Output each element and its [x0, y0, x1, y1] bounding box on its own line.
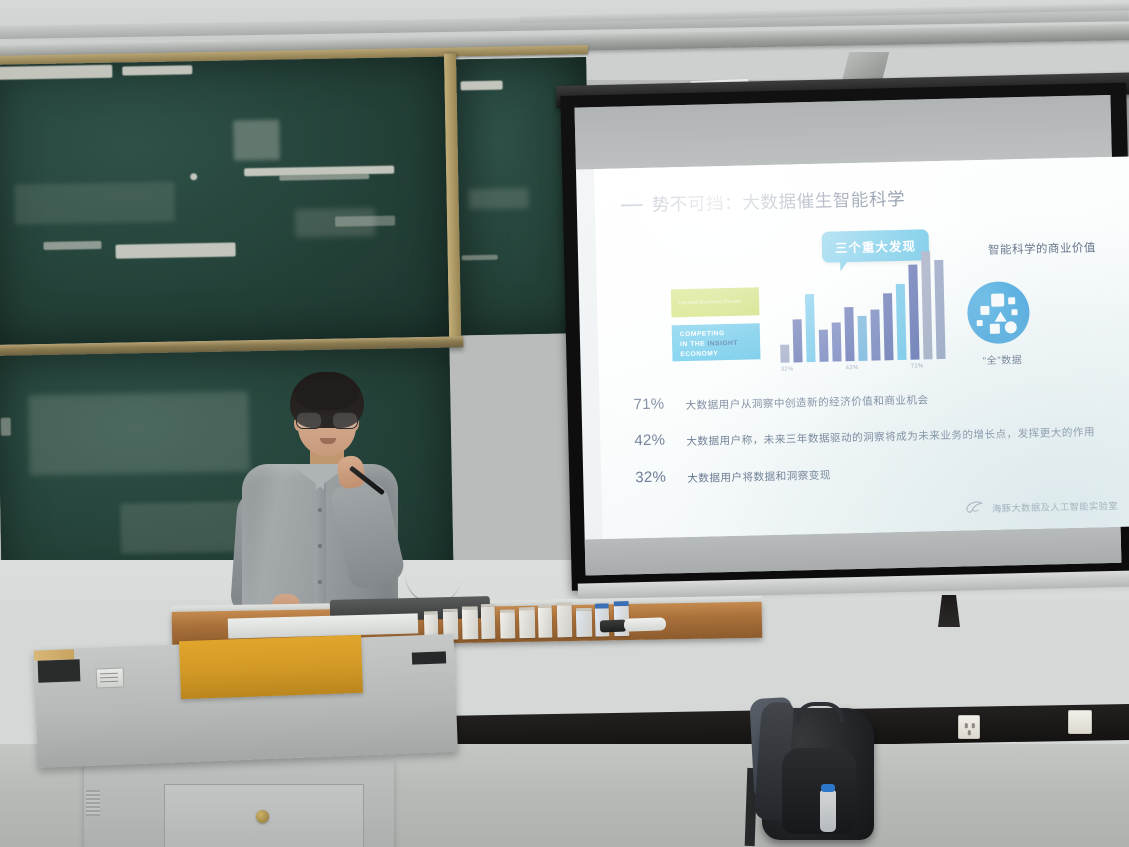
lectern	[22, 630, 470, 847]
competing-line-2-plain: IN THE	[680, 341, 707, 349]
dolphin-logo-icon	[965, 500, 985, 516]
blackboard-left	[0, 57, 449, 345]
lectern-recess-left	[38, 659, 81, 682]
glasses-lens-left	[296, 412, 322, 429]
lectern-wood-trim	[34, 649, 74, 660]
projected-slide: 势不可挡：大数据催生智能科学 智能科学的商业价值 三个重大发现 Harvard …	[594, 157, 1129, 540]
slide-title-row: 势不可挡：大数据催生智能科学	[621, 186, 906, 218]
projection-screen: 势不可挡：大数据催生智能科学 智能科学的商业价值 三个重大发现 Harvard …	[556, 72, 1129, 605]
chart-bar	[844, 307, 854, 361]
screen-surface: 势不可挡：大数据催生智能科学 智能科学的商业价值 三个重大发现 Harvard …	[575, 95, 1122, 575]
chart-bar	[921, 251, 933, 359]
shirt-button	[318, 580, 322, 584]
chart-bar	[908, 265, 919, 360]
finding-bullet: 71%大数据用户从洞察中创造新的经济价值和商业机会	[633, 385, 1103, 415]
shirt-button	[318, 544, 322, 548]
chart-bar	[780, 345, 789, 363]
competing-line-2-highlight: INSIGHT	[707, 340, 738, 348]
finding-bullet: 42%大数据用户称，未来三年数据驱动的洞察将成为未来业务的增长点，发挥更大的作用	[634, 422, 1104, 452]
finding-percent: 42%	[634, 432, 674, 450]
presenter-raised-hand	[336, 454, 366, 489]
backpack-bottle-cap	[821, 784, 835, 792]
lectern-wood-panel	[179, 635, 363, 699]
lectern-lock-icon[interactable]	[256, 810, 269, 823]
lectern-recess-right	[412, 651, 446, 664]
chart-bar	[793, 319, 803, 362]
chart-bar	[805, 294, 816, 362]
lectern-vent	[86, 790, 100, 816]
lab-name-footer: 海豚大数据及人工智能实验室	[992, 498, 1118, 515]
product-box	[538, 605, 553, 638]
finding-text: 大数据用户将数据和洞察变现	[687, 464, 831, 487]
chart-bar	[883, 293, 894, 360]
competing-insight-economy-block: COMPETING IN THE INSIGHT ECONOMY	[672, 323, 761, 361]
classroom-photo: 势不可挡：大数据催生智能科学 智能科学的商业价值 三个重大发现 Harvard …	[0, 0, 1129, 847]
finding-percent: 32%	[635, 468, 675, 486]
chart-axis-label: 32%	[781, 366, 794, 372]
all-data-caption: “全”数据	[964, 351, 1040, 368]
lectern-label-plate	[96, 668, 125, 689]
finding-bullet: 32%大数据用户将数据和洞察变现	[635, 458, 1105, 488]
black-desk-object	[600, 620, 626, 633]
findings-bullet-list: 71%大数据用户从洞察中创造新的经济价值和商业机会42%大数据用户称，未来三年数…	[633, 385, 1105, 505]
chart-bar	[896, 284, 907, 360]
glasses-lens-right	[332, 412, 358, 429]
white-tube-object	[624, 617, 666, 631]
backpack	[752, 690, 884, 840]
all-data-icon	[967, 281, 1030, 344]
product-box	[557, 602, 573, 637]
finding-text: 大数据用户从洞察中创造新的经济价值和商业机会	[685, 389, 928, 414]
chart-bar	[832, 322, 842, 361]
finding-text: 大数据用户称，未来三年数据驱动的洞察将成为未来业务的增长点，发挥更大的作用	[686, 422, 1095, 451]
findings-bar-chart: 32%42%71%	[778, 249, 947, 363]
backpack-water-bottle	[820, 790, 836, 832]
hbr-logo-text: Harvard Business Review	[671, 299, 741, 307]
chart-bar	[858, 316, 868, 361]
chart-axis-label: 42%	[846, 365, 859, 371]
backpack-front-pocket	[782, 748, 856, 834]
glasses-icon	[296, 412, 358, 427]
chart-axis-label: 71%	[911, 363, 924, 369]
slide-title: 势不可挡：大数据催生智能科学	[652, 186, 906, 217]
finding-percent: 71%	[633, 395, 673, 413]
product-box	[500, 609, 516, 638]
product-box	[519, 607, 536, 638]
hbr-logo-block: Harvard Business Review	[671, 287, 760, 317]
chart-bar	[819, 330, 829, 362]
product-box	[481, 604, 496, 639]
chart-bar	[870, 309, 880, 360]
backpack-handle	[796, 702, 844, 722]
shirt-button	[318, 508, 322, 512]
competing-line-3: ECONOMY	[680, 349, 760, 361]
slide-footer: 海豚大数据及人工智能实验室	[965, 497, 1118, 517]
product-box	[576, 608, 593, 637]
wall-outlet[interactable]	[1068, 710, 1092, 734]
wall-outlet[interactable]	[958, 715, 980, 739]
title-dash-icon	[621, 203, 643, 206]
glasses-bridge	[320, 417, 332, 418]
chart-bar	[934, 260, 945, 359]
business-value-heading: 智能科学的商业价值	[988, 239, 1096, 258]
